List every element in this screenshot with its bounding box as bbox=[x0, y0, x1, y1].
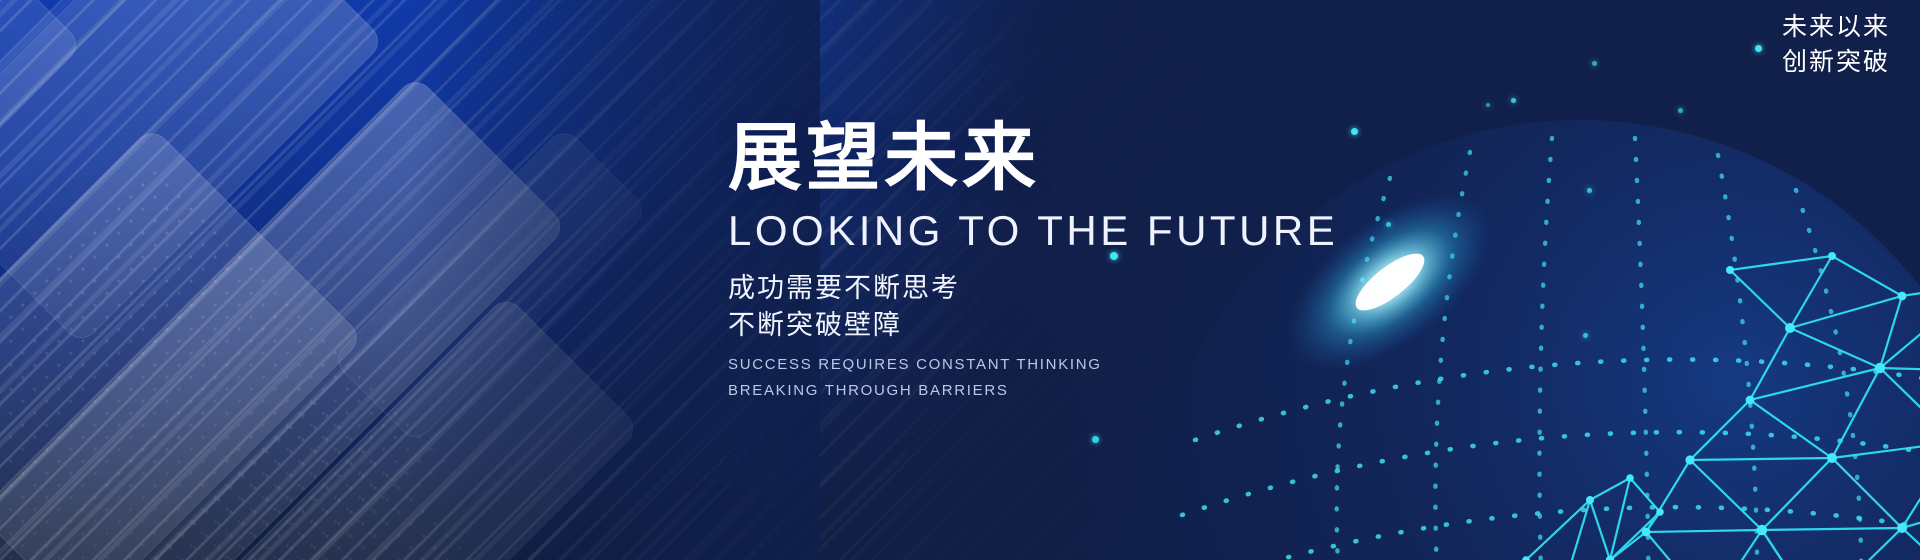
banner-hero: 展望未来 LOOKING TO THE FUTURE 成功需要不断思考 不断突破… bbox=[0, 0, 1920, 560]
particle-dot bbox=[1755, 45, 1762, 52]
page-subtitle: LOOKING TO THE FUTURE bbox=[728, 209, 1338, 253]
left-fade-overlay bbox=[0, 0, 820, 560]
corner-tagline-line-1: 未来以来 bbox=[1782, 10, 1890, 45]
slogan-en-line-1: SUCCESS REQUIRES CONSTANT THINKING bbox=[728, 352, 1338, 378]
slogan-cn-line-2: 不断突破壁障 bbox=[728, 307, 1338, 344]
page-title: 展望未来 bbox=[728, 120, 1338, 195]
particle-dot bbox=[1678, 108, 1683, 113]
particle-dot bbox=[1092, 436, 1099, 443]
slogan-cn-line-1: 成功需要不断思考 bbox=[728, 270, 1338, 307]
particle-dot bbox=[1486, 103, 1490, 107]
slogan-en-line-2: BREAKING THROUGH BARRIERS bbox=[728, 378, 1338, 404]
slogan-en-group: SUCCESS REQUIRES CONSTANT THINKING BREAK… bbox=[728, 352, 1338, 405]
hero-text-block: 展望未来 LOOKING TO THE FUTURE 成功需要不断思考 不断突破… bbox=[728, 120, 1338, 405]
particle-dot bbox=[1511, 98, 1516, 103]
particle-dot bbox=[1386, 222, 1391, 227]
particle-dot bbox=[1592, 61, 1597, 66]
corner-tagline: 未来以来 创新突破 bbox=[1782, 10, 1890, 80]
corner-tagline-line-2: 创新突破 bbox=[1782, 45, 1890, 80]
slogan-cn-group: 成功需要不断思考 不断突破壁障 bbox=[728, 270, 1338, 345]
particle-dot bbox=[1587, 188, 1592, 193]
particle-dot bbox=[1351, 128, 1358, 135]
particle-dot bbox=[1583, 333, 1588, 338]
